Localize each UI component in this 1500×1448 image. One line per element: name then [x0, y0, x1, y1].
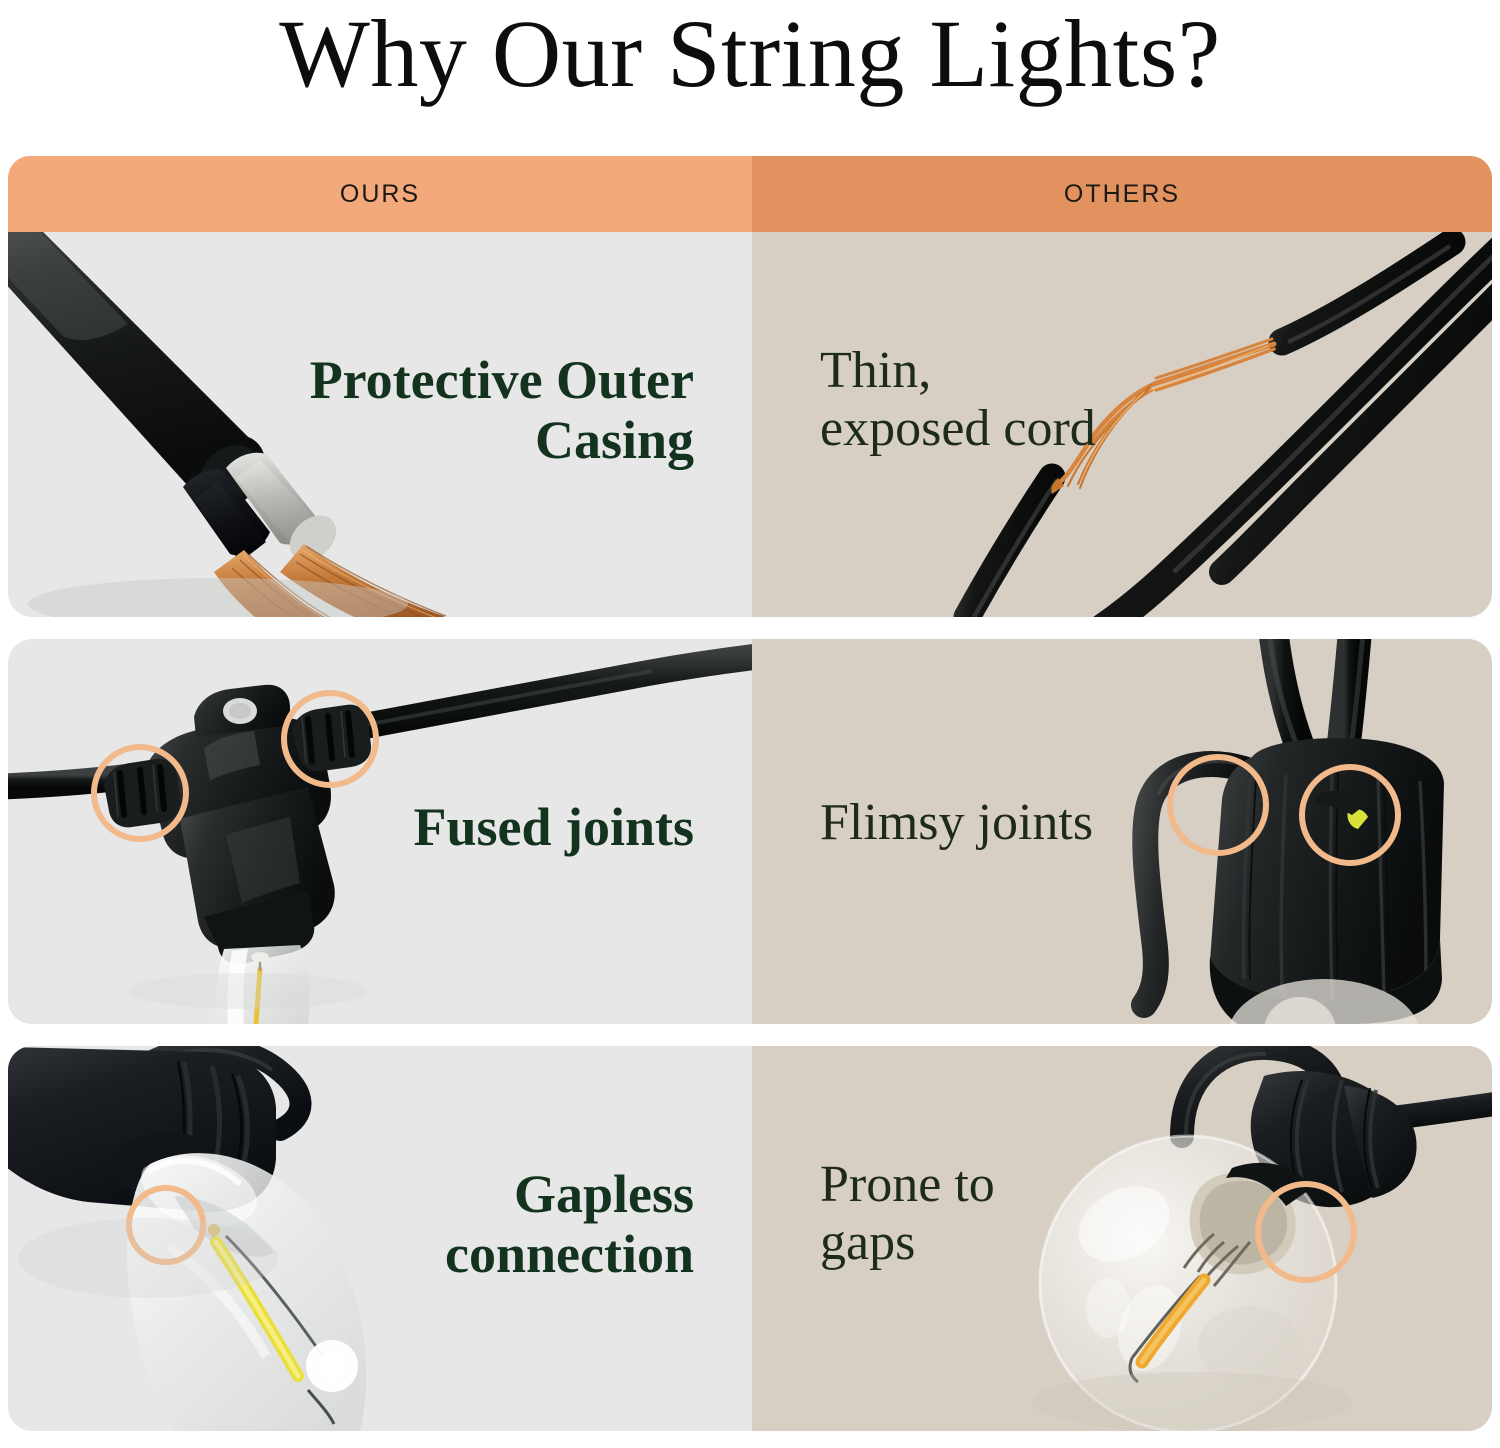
- caption-ours-row-1: Protective Outer Casing: [310, 350, 694, 471]
- cell-others-flimsy-joints: Flimsy joints: [752, 639, 1492, 1024]
- caption-others-row-3: Prone to gaps: [820, 1156, 995, 1272]
- caption-others-row-2: Flimsy joints: [820, 794, 1093, 852]
- column-header-ours: OURS: [8, 156, 752, 232]
- cell-others-prone-to-gaps: Prone to gaps: [752, 1046, 1492, 1431]
- comparison-table: OURS OTHERS: [8, 156, 1492, 1431]
- table-row: Fused joints: [8, 639, 1492, 1024]
- table-header-row: OURS OTHERS: [8, 156, 1492, 232]
- cell-ours-gapless-connection: Gapless connection: [8, 1046, 752, 1431]
- caption-others-row-1: Thin, exposed cord: [820, 342, 1096, 458]
- column-header-others: OTHERS: [752, 156, 1492, 232]
- comparison-infographic: Why Our String Lights? OURS OTHERS: [0, 0, 1500, 1448]
- caption-ours-row-3: Gapless connection: [445, 1164, 694, 1285]
- table-row: Protective Outer Casing: [8, 232, 1492, 617]
- page-title: Why Our String Lights?: [0, 2, 1500, 106]
- caption-ours-row-2: Fused joints: [413, 797, 694, 857]
- cell-ours-protective-casing: Protective Outer Casing: [8, 232, 752, 617]
- cell-others-thin-cord: Thin, exposed cord: [752, 232, 1492, 617]
- table-row: Gapless connection: [8, 1046, 1492, 1431]
- cell-ours-fused-joints: Fused joints: [8, 639, 752, 1024]
